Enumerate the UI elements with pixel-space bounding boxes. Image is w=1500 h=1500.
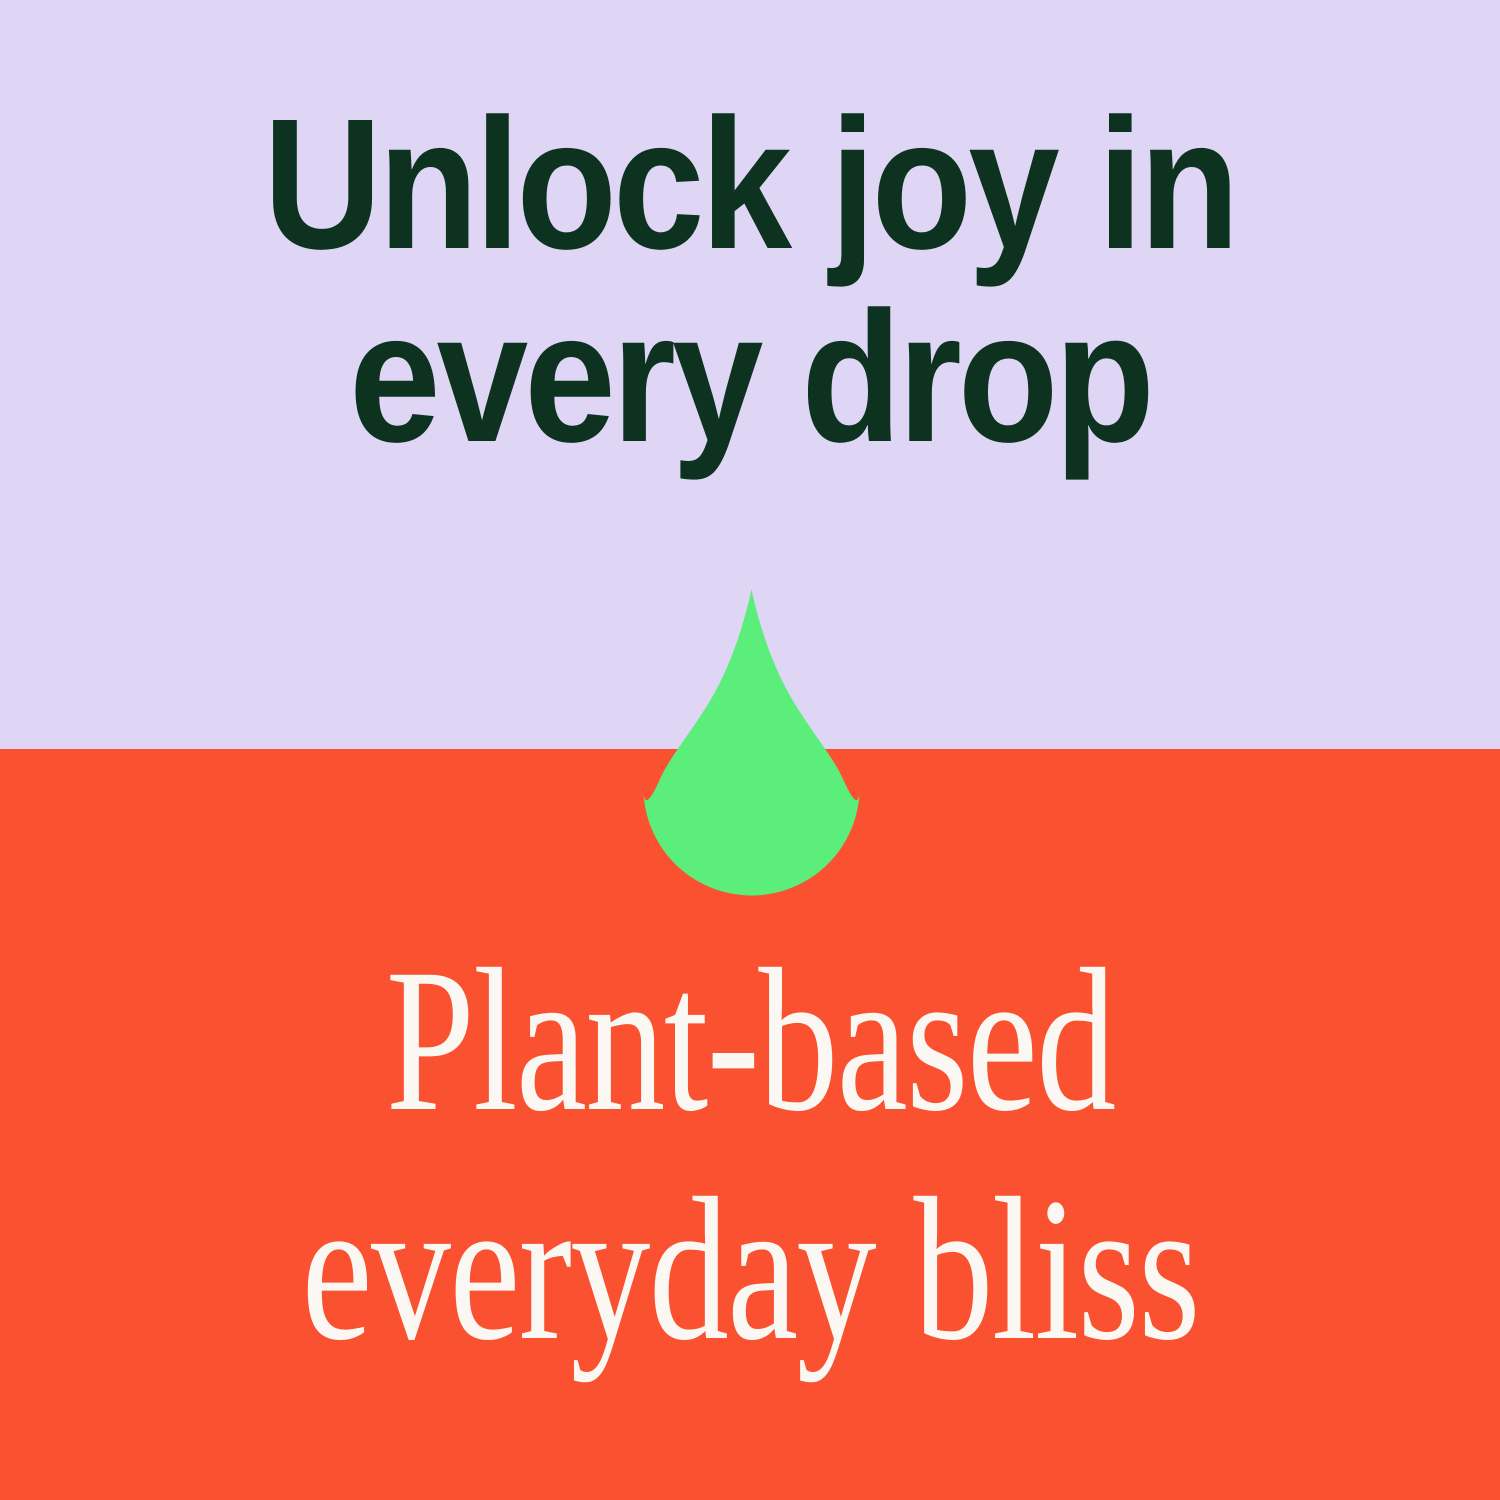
promo-card: Unlock joy in every drop Plant-based eve…: [0, 0, 1500, 1500]
water-droplet-icon: [643, 589, 860, 896]
